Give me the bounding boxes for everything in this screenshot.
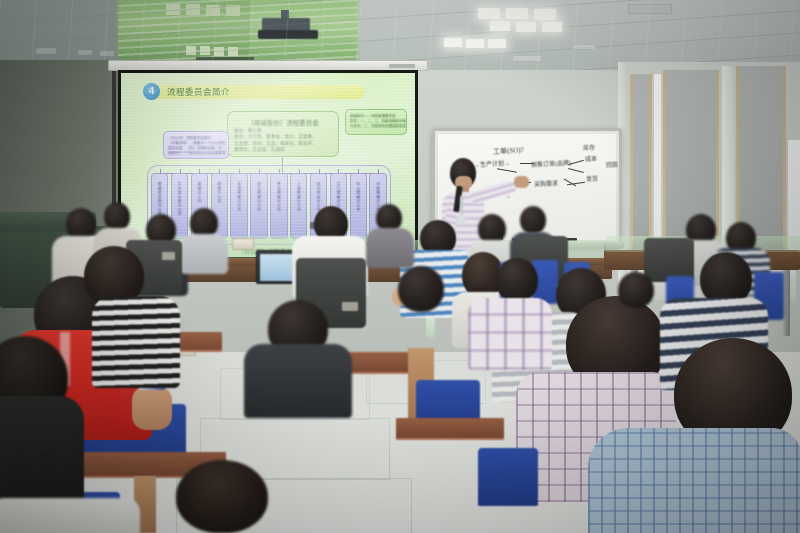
ceiling-vent bbox=[628, 4, 672, 14]
torso bbox=[92, 296, 180, 388]
head bbox=[496, 258, 538, 302]
center-line: 黄明华、王成富、孔德成 bbox=[234, 147, 332, 153]
head bbox=[176, 460, 268, 533]
head bbox=[104, 202, 130, 231]
torso bbox=[366, 228, 414, 268]
org-box-label: 顺德分公司 bbox=[217, 182, 222, 203]
org-box: 中山顺威分公司 bbox=[350, 173, 367, 239]
org-box: 上海顺威分公司 bbox=[290, 173, 307, 239]
torso bbox=[180, 234, 228, 274]
slide-center-heading: （顺威股份）流程委员会 bbox=[228, 117, 338, 127]
org-box: 武汉顺威分公司 bbox=[250, 173, 267, 239]
org-box-label: 中山顺威分公司 bbox=[356, 182, 361, 211]
ceiling-vent bbox=[100, 51, 114, 56]
ceiling-light bbox=[516, 22, 536, 32]
audience-chair[interactable] bbox=[478, 448, 538, 506]
ceiling-light bbox=[506, 8, 528, 19]
org-box: 青岛顺威分公司 bbox=[270, 173, 287, 239]
whiteboard-note: 工单(SO)? bbox=[493, 145, 524, 157]
org-box-label: 营销分公司 bbox=[197, 182, 202, 203]
chair-label bbox=[342, 302, 358, 311]
forearm bbox=[132, 386, 172, 430]
slide-section-badge: 4 bbox=[143, 83, 160, 100]
lanyard bbox=[460, 196, 463, 216]
whiteboard-note: →生产计划→ bbox=[474, 158, 510, 169]
callout-right-line: 顺威股份——流程管理委员会 bbox=[346, 110, 406, 119]
attendee-head-midback bbox=[398, 266, 444, 312]
whiteboard-note: 回款 bbox=[606, 160, 618, 170]
audience-desk bbox=[396, 418, 504, 440]
presenter-hand bbox=[514, 176, 529, 188]
slide-center-box: （顺威股份）流程委员会 组长：黄仁刚 委员：文行伟、董事会、张兴、王道来、 王志… bbox=[227, 111, 339, 157]
ceiling-light bbox=[490, 21, 510, 31]
org-box-label: 武汉研创分公司 bbox=[316, 182, 321, 211]
callout-left-line: 按照所在公司体系的分公司运营管理 bbox=[164, 151, 228, 156]
screen-housing-logo bbox=[389, 64, 415, 68]
whiteboard-arrow bbox=[520, 163, 534, 164]
ceiling-vent bbox=[78, 50, 92, 55]
ceiling-light bbox=[478, 8, 500, 19]
ceiling-light bbox=[534, 9, 556, 20]
ceiling-vent bbox=[572, 44, 596, 50]
whiteboard-note: 发货 bbox=[586, 174, 598, 184]
slide-callout-right: 顺威股份——流程管理委员会 职责：一、二、三、四级流程的评审 与发布，二、流程体… bbox=[345, 109, 407, 135]
whiteboard-note: 成本 bbox=[585, 154, 597, 164]
org-box-label: 上海顺威分公司 bbox=[296, 182, 301, 211]
head bbox=[520, 206, 546, 234]
slide-center-lines: 组长：黄仁刚 委员：文行伟、董事会、张兴、王道来、 王志勇、李林、王昆、黄新元、… bbox=[234, 128, 332, 154]
ceiling-light bbox=[542, 22, 562, 32]
ceiling-vent bbox=[36, 48, 56, 54]
attendee-torso-midback bbox=[244, 344, 352, 418]
glasses bbox=[310, 222, 321, 229]
ceiling-vent bbox=[512, 55, 542, 62]
org-box-label: 顺威研究院分公司 bbox=[157, 182, 162, 216]
head bbox=[618, 272, 654, 308]
whiteboard-note: 库存 bbox=[583, 143, 595, 153]
org-box-label: 武汉顺威分公司 bbox=[257, 182, 262, 211]
slide-org-columns: 顺威研究院分公司 华中事业部分公司 营销分公司 顺德分公司 芜湖顺威分公司 武汉… bbox=[151, 173, 387, 239]
torso bbox=[588, 428, 800, 533]
callout-right-line: 与发布，二、流程体系的建设和优化 bbox=[346, 124, 406, 129]
slide-title: 流程委员会简介 bbox=[167, 86, 230, 98]
id-badge bbox=[457, 214, 465, 225]
org-box-label: 华中事业部分公司 bbox=[177, 182, 182, 216]
callout-left-line: （分公司）流程委员会组长 bbox=[164, 132, 228, 141]
org-box-label: 青岛顺威分公司 bbox=[276, 182, 281, 211]
slide-callout-left: （分公司）流程委员会组长 （分管领导）：需要对一个分公司的 整体运营、（同）流程… bbox=[163, 131, 229, 159]
photo-scene: 4 流程委员会简介 （顺威股份）流程委员会 组长：黄仁刚 委员：文行伟、董事会、… bbox=[0, 0, 800, 533]
ceiling-light bbox=[488, 39, 506, 48]
whiteboard-note: 采购需求 bbox=[534, 178, 558, 188]
ceiling-light bbox=[444, 38, 462, 47]
ceiling-light bbox=[466, 39, 484, 48]
tissue-box bbox=[232, 238, 254, 250]
torso bbox=[468, 298, 552, 370]
chair-label bbox=[162, 252, 175, 260]
org-box-label: 芜湖顺威分公司 bbox=[237, 182, 242, 211]
org-box: 芜湖顺威分公司 bbox=[230, 173, 247, 239]
torso bbox=[0, 498, 140, 533]
